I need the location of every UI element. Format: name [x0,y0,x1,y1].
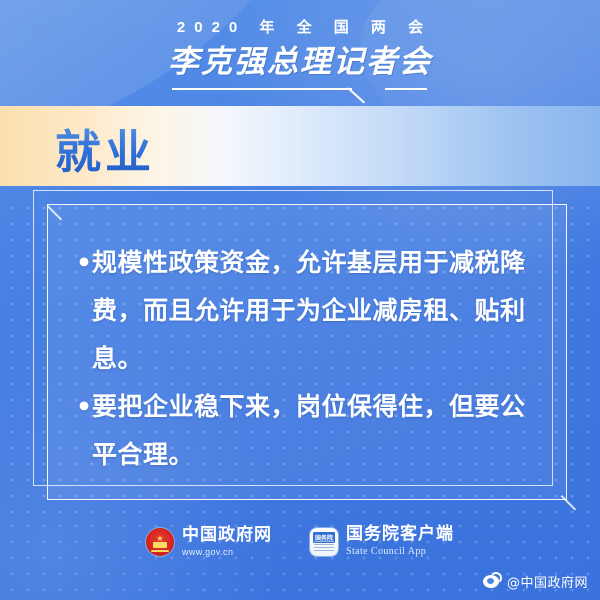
content-card-wrapper: • 规模性政策资金，允许基层用于减税降费，而且允许用于为企业减房租、贴利息。 •… [33,190,567,500]
app-icon-lines [314,541,334,552]
content-card: • 规模性政策资金，允许基层用于减税降费，而且允许用于为企业减房租、贴利息。 •… [47,204,567,500]
poster-footer: ★ 中国政府网 www.gov.cn 国务院 国务院客户端 State Coun… [0,520,600,564]
header-rule-diagonal [347,87,365,103]
weibo-watermark: @中国政府网 [483,572,588,591]
poster-root: 2020 年 全 国 两 会 李克强总理记者会 就业 • 规模性政策资金，允许基… [0,0,600,600]
header-kicker: 2020 年 全 国 两 会 [0,16,600,37]
brand-gov-cn-url: www.gov.cn [182,548,272,557]
brand-state-council-app: 国务院 国务院客户端 State Council App [310,526,454,557]
national-emblem-icon: ★ [146,528,174,556]
card-corner-diagonal-top-left [47,205,62,220]
poster-header: 2020 年 全 国 两 会 李克强总理记者会 [0,0,600,104]
weibo-icon [483,572,502,591]
brand-state-council-en: State Council App [346,547,454,558]
emblem-base [151,550,169,552]
list-item: • 规模性政策资金，允许基层用于减税降费，而且允许用于为企业减房租、贴利息。 [76,239,544,383]
brand-gov-cn: ★ 中国政府网 www.gov.cn [146,527,272,557]
state-council-app-icon: 国务院 [310,528,338,556]
brand-gov-cn-text: 中国政府网 www.gov.cn [182,527,272,557]
bullet-text: 要把企业稳下来，岗位保得住，但要公平合理。 [92,383,544,479]
bullet-marker-icon: • [76,239,92,287]
header-rule-long [172,88,352,90]
brand-state-council-name: 国务院客户端 [346,526,454,544]
bullet-list: • 规模性政策资金，允许基层用于减税降费，而且允许用于为企业减房租、贴利息。 •… [76,239,544,479]
header-rule-short [385,88,427,90]
brand-state-council-text: 国务院客户端 State Council App [346,526,454,557]
brand-gov-cn-name: 中国政府网 [182,527,272,545]
header-title: 李克强总理记者会 [0,36,600,81]
header-rule [0,88,600,102]
weibo-icon-arc [490,572,502,584]
section-title: 就业 [55,116,155,182]
card-corner-diagonal-bottom-right [561,495,576,510]
bullet-text: 规模性政策资金，允许基层用于减税降费，而且允许用于为企业减房租、贴利息。 [92,239,544,383]
weibo-handle: @中国政府网 [507,572,588,591]
bullet-marker-icon: • [76,383,92,431]
list-item: • 要把企业稳下来，岗位保得住，但要公平合理。 [76,383,544,479]
emblem-gate [153,542,167,548]
